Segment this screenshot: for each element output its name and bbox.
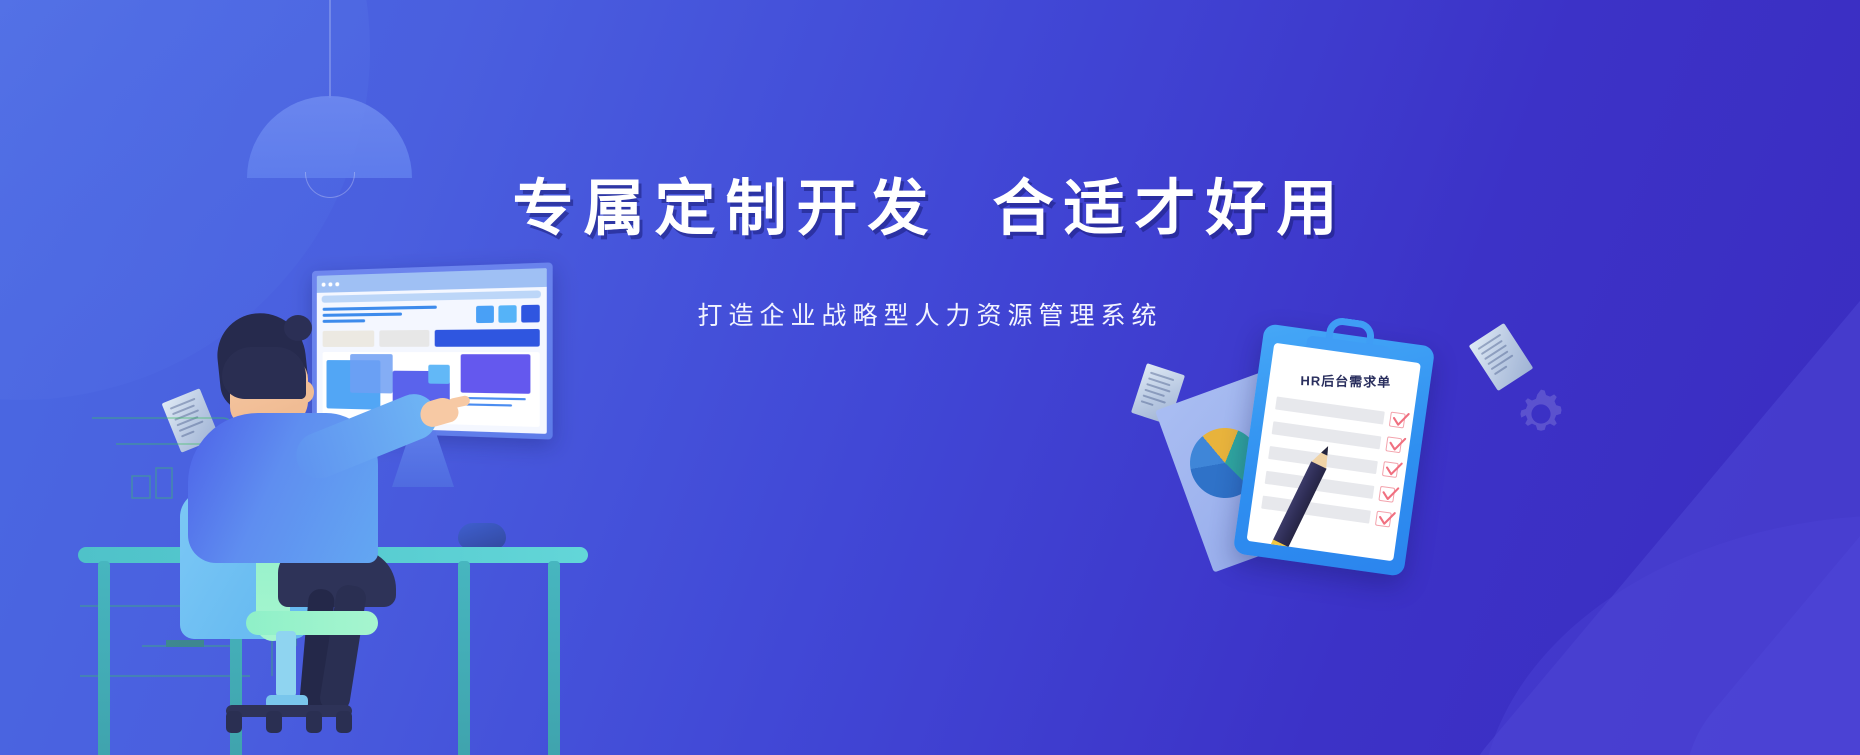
lamp-cord-icon — [329, 0, 331, 98]
clipboard-checklist — [1260, 396, 1406, 538]
chair-caster — [336, 711, 352, 733]
canvas-line — [461, 397, 526, 400]
person-at-desk-illustration — [60, 255, 680, 755]
checklist-item-bar — [1275, 396, 1385, 424]
person-figure — [168, 313, 438, 643]
computer-mouse-icon — [458, 523, 506, 549]
chair-base — [226, 705, 352, 717]
desk-leg — [98, 561, 110, 755]
chip-tile — [521, 305, 540, 323]
checkbox-checked-icon[interactable] — [1389, 411, 1406, 428]
clipboard: HR后台需求单 — [1233, 323, 1436, 577]
gear-icon-right — [1514, 387, 1568, 441]
chair-caster — [306, 711, 322, 733]
chair-caster — [266, 711, 282, 733]
checkbox-checked-icon[interactable] — [1385, 436, 1402, 453]
window-dot-icon — [322, 282, 326, 286]
person-hair-front — [222, 347, 306, 399]
clipboard-illustration: HR后台需求单 — [1180, 320, 1460, 620]
hero-banner: 专属定制开发 合适才好用 打造企业战略型人力资源管理系统 — [0, 0, 1860, 755]
window-dot-icon — [335, 282, 339, 286]
checkbox-checked-icon[interactable] — [1375, 510, 1392, 527]
banner-headline: 专属定制开发 合适才好用 — [513, 178, 1348, 239]
chair-seat — [246, 611, 378, 635]
checklist-item-bar — [1261, 495, 1371, 523]
clipboard-title: HR后台需求单 — [1284, 370, 1408, 391]
banner-subheadline: 打造企业战略型人力资源管理系统 — [697, 304, 1162, 329]
pill-tile-accent — [435, 329, 540, 347]
chair-caster — [226, 711, 242, 733]
window-dot-icon — [328, 282, 332, 286]
desk-leg — [458, 561, 470, 755]
checkbox-checked-icon[interactable] — [1378, 485, 1395, 502]
chip-tile — [498, 305, 516, 323]
canvas-tile — [461, 354, 531, 394]
person-hair-bun — [284, 315, 312, 341]
browser-titlebar — [317, 268, 547, 293]
chair-post — [276, 631, 296, 697]
floating-document-icon-right — [1469, 323, 1534, 391]
desk-leg — [548, 561, 560, 755]
clipboard-paper: HR后台需求单 — [1247, 343, 1421, 562]
checkbox-checked-icon[interactable] — [1382, 461, 1399, 478]
chip-tile — [476, 306, 494, 324]
